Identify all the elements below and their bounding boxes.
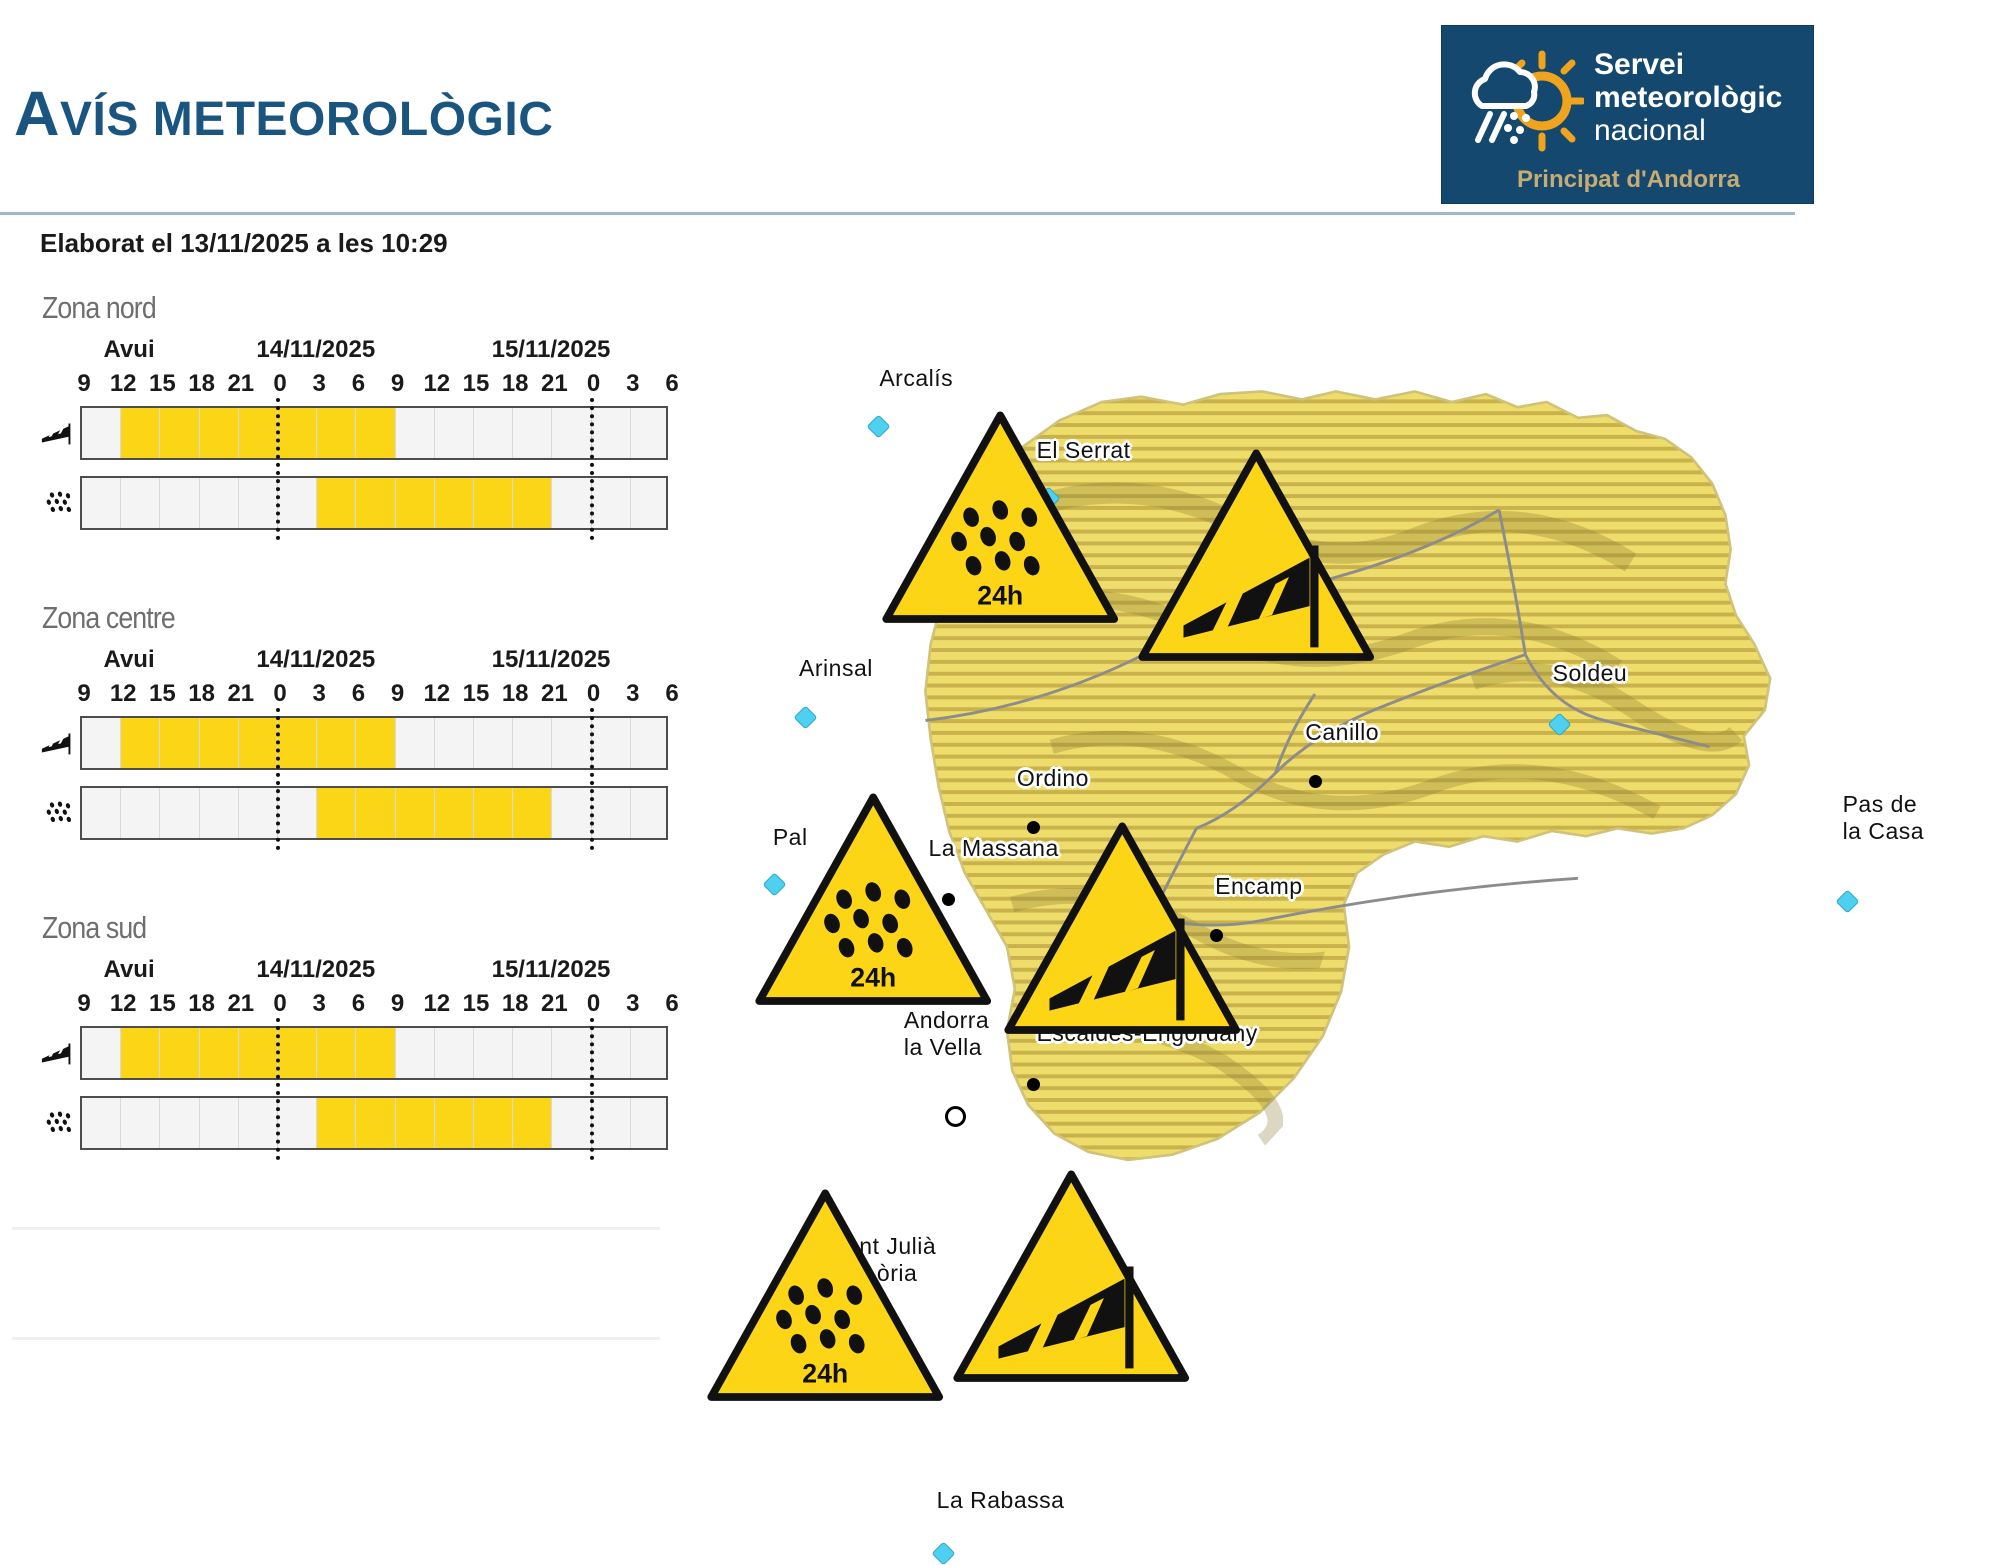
wind-warning-triangle[interactable] [1001,807,1243,1049]
timeline-cell [513,1098,552,1148]
hour-label: 21 [541,990,568,1018]
timeline-cell [160,788,199,838]
timeline-cell [552,408,591,458]
hour-label: 18 [188,990,215,1018]
timeline-cell [356,718,395,768]
timeline-day-labels: Avui14/11/202515/11/2025 [80,956,670,986]
timeline-cell [474,1098,513,1148]
timeline-cell [121,408,160,458]
timeline-cell [356,408,395,458]
hazard-timeline-bar[interactable] [80,786,668,840]
timeline-cell [474,408,513,458]
timeline-cell [552,718,591,768]
hour-label: 12 [110,680,137,708]
timeline-cell [278,1098,317,1148]
timeline-cell [631,718,668,768]
timeline-cell [435,1098,474,1148]
timeline-cell [160,478,199,528]
page-title-rest: VÍS METEOROLÒGIC [60,93,553,146]
windsock-icon [40,414,78,454]
map-place-marker-blue [931,1541,955,1565]
day-label: Avui [104,336,155,364]
timeline-cell [513,478,552,528]
wind-warning-triangle[interactable] [1135,434,1377,676]
hour-label: 6 [665,990,678,1018]
day-label: 15/11/2025 [492,646,611,674]
timeline-cell [631,788,668,838]
hour-label: 3 [313,370,326,398]
hazard-timeline-bar[interactable] [80,1096,668,1150]
timeline-cell [396,1028,435,1078]
svg-text:24h: 24h [978,581,1024,611]
day-label: 15/11/2025 [492,956,611,984]
timeline-day-labels: Avui14/11/202515/11/2025 [80,336,670,366]
hazard-row-wind [80,406,670,462]
timeline-cell [82,1028,121,1078]
timeline-cell [435,788,474,838]
timeline-cell [121,1098,160,1148]
zone-block-zona-sud: Zona sudAvui14/11/202515/11/202591215182… [0,910,700,1210]
hour-label: 12 [110,370,137,398]
hour-label: 3 [626,680,639,708]
day-label: Avui [104,956,155,984]
hour-label: 6 [665,680,678,708]
map-place-label: Pas de la Casa [1843,791,1924,845]
hour-label: 3 [626,370,639,398]
map-place-label: Soldeu [1553,660,1628,687]
map-place-label: Arinsal [799,655,873,682]
timeline-cell [121,788,160,838]
day-label: 15/11/2025 [492,336,611,364]
timeline-day-labels: Avui14/11/202515/11/2025 [80,646,670,676]
timeline-hour-labels: 912151821036912151821036 [80,680,670,710]
hour-label: 15 [463,680,490,708]
timeline-cell [356,1098,395,1148]
hour-label: 12 [110,990,137,1018]
timeline-cell [592,788,631,838]
timeline-cell [474,1028,513,1078]
snow-warning-triangle[interactable]: 24h [879,396,1121,638]
smn-logo: Servei meteorològic nacional Principat d… [1441,25,1814,204]
timeline-cell [200,478,239,528]
timeline-cell [474,478,513,528]
timeline-cell [278,1028,317,1078]
timeline-cell [474,788,513,838]
hazard-row-snow [80,1096,670,1152]
timeline-cell [592,478,631,528]
timeline-cell [239,1098,278,1148]
timeline-cell [200,1028,239,1078]
timeline-cell [631,478,668,528]
timeline-cell [317,408,356,458]
hour-label: 9 [77,370,90,398]
timeline-cell [435,718,474,768]
map-place-label: Ordino [1017,765,1089,792]
timeline-cell [317,718,356,768]
hazard-timeline-bar[interactable] [80,1026,668,1080]
hour-label: 6 [352,990,365,1018]
timeline-cell [552,788,591,838]
snow-icon [44,488,82,528]
hour-label: 9 [391,990,404,1018]
timeline-cell [278,478,317,528]
hour-label: 21 [541,680,568,708]
day-divider [590,708,594,850]
timeline-cell [631,408,668,458]
hour-label: 18 [502,370,529,398]
hour-label: 15 [463,370,490,398]
timeline-cell [552,1098,591,1148]
day-divider [590,1018,594,1160]
hour-label: 9 [391,370,404,398]
timeline-cell [513,1028,552,1078]
timeline-cell [200,788,239,838]
timeline-cell [121,718,160,768]
hour-label: 0 [587,370,600,398]
timeline-cell [396,788,435,838]
hour-label: 15 [149,370,176,398]
timeline-cell [435,478,474,528]
wind-warning-triangle[interactable] [950,1155,1192,1397]
windsock-icon [40,724,78,764]
hour-label: 21 [227,680,254,708]
timeline-cell [317,1028,356,1078]
timeline-cell [239,718,278,768]
section-separator [12,1337,660,1340]
day-divider [276,1018,280,1160]
zone-block-zona-centre: Zona centreAvui14/11/202515/11/202591215… [0,600,700,900]
zone-title: Zona sud [42,910,146,946]
map-place-label: La Rabassa [937,1487,1065,1514]
timeline-cell [278,718,317,768]
timeline-cell [160,408,199,458]
timeline-cell [513,408,552,458]
page-header: AVÍS METEOROLÒGIC [0,0,2000,222]
hour-label: 12 [423,990,450,1018]
hour-label: 3 [626,990,639,1018]
hazard-timeline-bar[interactable] [80,406,668,460]
hour-label: 18 [502,680,529,708]
hour-label: 12 [423,370,450,398]
timeline-cell [82,478,121,528]
timeline-cell [396,408,435,458]
hour-label: 3 [313,990,326,1018]
map-place-marker-capital [945,1106,966,1127]
timeline-cell [239,478,278,528]
hour-label: 21 [541,370,568,398]
section-separator [12,1227,660,1230]
day-divider [276,398,280,540]
hour-label: 0 [273,370,286,398]
timeline-cell [278,788,317,838]
timeline-cell [474,718,513,768]
timeline-cell [592,408,631,458]
timeline-cell [160,1028,199,1078]
hazard-row-snow [80,786,670,842]
timeline-cell [239,1028,278,1078]
zone-timeline: Avui14/11/202515/11/20259121518210369121… [80,646,670,836]
timeline-cell [317,1098,356,1148]
timeline-cell [513,718,552,768]
hour-label: 9 [391,680,404,708]
timeline-cell [631,1028,668,1078]
timeline-cell [435,408,474,458]
hazard-row-wind [80,716,670,772]
hour-label: 21 [227,990,254,1018]
timeline-cell [160,1098,199,1148]
timeline-cell [592,1098,631,1148]
timeline-hour-labels: 912151821036912151821036 [80,990,670,1020]
timeline-cell [82,408,121,458]
logo-subtitle: Principat d'Andorra [1442,166,1815,194]
hazard-timeline-bar[interactable] [80,716,668,770]
page-title-initial: A [14,79,60,149]
hazard-timeline-bar[interactable] [80,476,668,530]
zone-timeline: Avui14/11/202515/11/20259121518210369121… [80,956,670,1146]
day-label: 14/11/2025 [256,646,375,674]
timeline-cell [82,1098,121,1148]
zone-forecast-panel: Zona nordAvui14/11/202515/11/20259121518… [0,290,700,1250]
hour-label: 6 [665,370,678,398]
hour-label: 18 [188,370,215,398]
hour-label: 18 [188,680,215,708]
windsock-icon [40,1034,78,1074]
day-label: 14/11/2025 [256,336,375,364]
map-place-marker-black [1027,1078,1040,1091]
timeline-cell [200,718,239,768]
timeline-cell [278,408,317,458]
hazard-row-snow [80,476,670,532]
map-place-label: Arcalís [879,365,953,392]
timeline-cell [239,408,278,458]
timeline-cell [356,788,395,838]
day-divider [590,398,594,540]
hour-label: 0 [587,680,600,708]
hour-label: 21 [227,370,254,398]
andorra-warning-map: ArcalísEl SerratSoldeuCanilloArinsalOrdi… [745,352,1990,1352]
timeline-cell [200,1098,239,1148]
timeline-cell [121,478,160,528]
elaboration-timestamp: Elaborat el 13/11/2025 a les 10:29 [40,228,448,259]
zone-title: Zona centre [42,600,175,636]
timeline-cell [356,478,395,528]
day-divider [276,708,280,850]
map-place-marker-black [1309,775,1322,788]
map-place-label: Canillo [1305,719,1379,746]
snow-warning-triangle[interactable]: 24h [704,1174,946,1416]
hour-label: 12 [423,680,450,708]
timeline-cell [592,1028,631,1078]
hour-label: 15 [149,990,176,1018]
hour-label: 18 [502,990,529,1018]
timeline-cell [552,478,591,528]
hazard-row-wind [80,1026,670,1082]
timeline-cell [396,1098,435,1148]
snow-icon [44,798,82,838]
timeline-cell [592,718,631,768]
timeline-cell [396,718,435,768]
hour-label: 3 [313,680,326,708]
timeline-cell [552,1028,591,1078]
hour-label: 0 [587,990,600,1018]
zone-timeline: Avui14/11/202515/11/20259121518210369121… [80,336,670,526]
timeline-cell [121,1028,160,1078]
timeline-cell [356,1028,395,1078]
hour-label: 0 [273,990,286,1018]
hour-label: 6 [352,680,365,708]
logo-line-2: meteorològic [1594,81,1804,114]
hour-label: 15 [149,680,176,708]
hour-label: 15 [463,990,490,1018]
timeline-cell [396,478,435,528]
hour-label: 9 [77,680,90,708]
day-label: Avui [104,646,155,674]
header-divider [0,212,1795,215]
timeline-cell [200,408,239,458]
cloud-rain-snow-sun-icon [1464,48,1584,156]
hour-label: 9 [77,990,90,1018]
snow-icon [44,1108,82,1148]
hour-label: 0 [273,680,286,708]
zone-title: Zona nord [42,290,156,326]
hour-label: 6 [352,370,365,398]
page-title: AVÍS METEOROLÒGIC [14,78,553,150]
timeline-hour-labels: 912151821036912151821036 [80,370,670,400]
snow-warning-triangle[interactable]: 24h [752,778,994,1020]
timeline-cell [160,718,199,768]
timeline-cell [317,788,356,838]
timeline-cell [82,718,121,768]
timeline-cell [631,1098,668,1148]
day-label: 14/11/2025 [256,956,375,984]
svg-text:24h: 24h [850,962,896,992]
logo-text: Servei meteorològic nacional [1594,48,1804,147]
timeline-cell [513,788,552,838]
zone-block-zona-nord: Zona nordAvui14/11/202515/11/20259121518… [0,290,700,590]
logo-line-3: nacional [1594,114,1804,147]
timeline-cell [239,788,278,838]
timeline-cell [317,478,356,528]
timeline-cell [435,1028,474,1078]
svg-text:24h: 24h [802,1359,848,1389]
logo-line-1: Servei [1594,48,1804,81]
timeline-cell [82,788,121,838]
